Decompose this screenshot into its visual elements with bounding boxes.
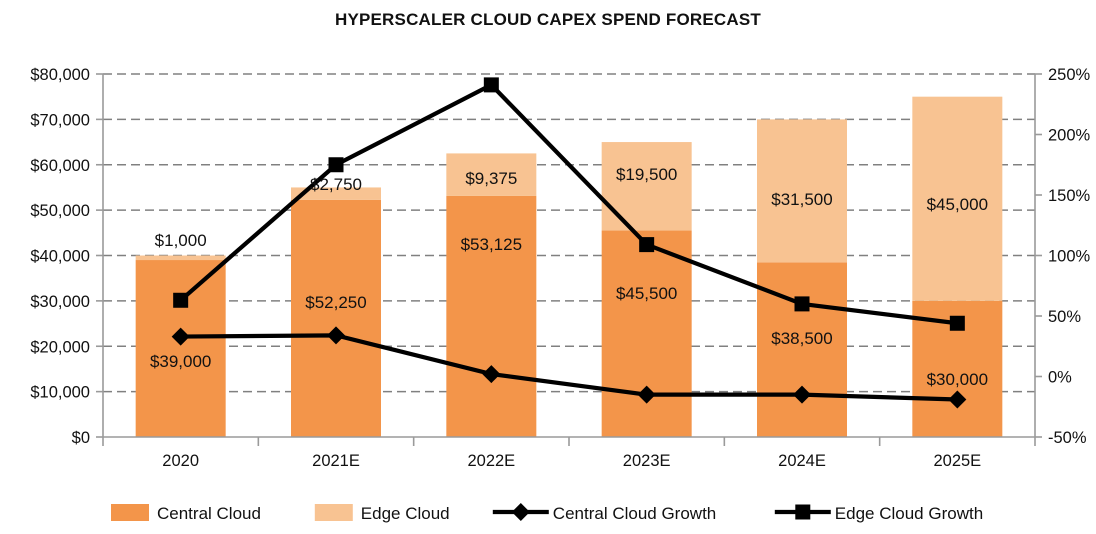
chart-container: $0$10,000$20,000$30,000$40,000$50,000$60… <box>0 0 1096 534</box>
left-axis-tick-label: $0 <box>72 429 90 447</box>
bar-edge-cloud[interactable] <box>602 142 692 230</box>
bar-label-central-cloud: $53,125 <box>461 235 522 254</box>
marker-square <box>795 296 810 311</box>
x-axis-tick-label: 2025E <box>933 452 981 470</box>
bar-central-cloud[interactable] <box>446 196 536 437</box>
legend-marker-diamond <box>512 503 530 521</box>
bar-label-edge-cloud: $19,500 <box>616 165 677 184</box>
right-axis-tick-label: 100% <box>1048 248 1091 266</box>
bar-central-cloud[interactable] <box>602 231 692 437</box>
marker-square <box>639 237 654 252</box>
left-axis-tick-label: $50,000 <box>30 202 90 220</box>
marker-square <box>484 77 499 92</box>
legend-swatch <box>315 504 353 521</box>
marker-square <box>950 316 965 331</box>
bar-label-edge-cloud: $1,000 <box>155 231 207 250</box>
right-axis-tick-label: 150% <box>1048 187 1091 205</box>
x-axis-tick-label: 2021E <box>312 452 360 470</box>
x-axis-tick-label: 2023E <box>623 452 671 470</box>
bar-label-edge-cloud: $45,000 <box>927 195 988 214</box>
bar-edge-cloud[interactable] <box>136 256 226 261</box>
capex-forecast-chart: $0$10,000$20,000$30,000$40,000$50,000$60… <box>0 0 1096 534</box>
right-axis-tick-label: 0% <box>1048 369 1072 387</box>
bar-label-edge-cloud: $9,375 <box>465 169 517 188</box>
legend-label: Edge Cloud Growth <box>835 504 983 523</box>
line-series-group <box>172 77 967 408</box>
right-axis-tick-label: 250% <box>1048 66 1091 84</box>
left-axis-tick-label: $70,000 <box>30 111 90 129</box>
right-axis-tick-label: 200% <box>1048 127 1091 145</box>
gridlines <box>103 74 1035 392</box>
marker-square <box>173 293 188 308</box>
x-axis-tick-label: 2024E <box>778 452 826 470</box>
left-axis-tick-label: $80,000 <box>30 66 90 84</box>
bar-label-central-cloud: $38,500 <box>771 329 832 348</box>
bar-label-central-cloud: $45,500 <box>616 284 677 303</box>
legend-item[interactable]: Edge Cloud Growth <box>775 504 983 523</box>
legend-marker-square <box>795 505 810 520</box>
bar-central-cloud[interactable] <box>757 262 847 437</box>
legend-item[interactable]: Central Cloud <box>111 504 261 523</box>
bar-label-central-cloud: $39,000 <box>150 352 211 371</box>
bar-data-labels: $39,000$1,000$52,250$2,750$53,125$9,375$… <box>150 165 988 389</box>
bar-central-cloud[interactable] <box>291 200 381 437</box>
bar-label-central-cloud: $30,000 <box>927 370 988 389</box>
left-axis-ticklabels: $0$10,000$20,000$30,000$40,000$50,000$60… <box>30 66 90 447</box>
legend-label: Central Cloud Growth <box>553 504 716 523</box>
x-axis-tick-label: 2020 <box>162 452 199 470</box>
legend-item[interactable]: Edge Cloud <box>315 504 450 523</box>
chart-legend: Central CloudEdge CloudCentral Cloud Gro… <box>111 503 983 523</box>
legend-swatch <box>111 504 149 521</box>
legend-item[interactable]: Central Cloud Growth <box>493 503 716 523</box>
bar-label-edge-cloud: $2,750 <box>310 175 362 194</box>
legend-label: Edge Cloud <box>361 504 450 523</box>
left-axis-tick-label: $30,000 <box>30 293 90 311</box>
bar-central-cloud[interactable] <box>136 260 226 437</box>
axes-group <box>96 74 1042 446</box>
right-axis-ticklabels: -50%0%50%100%150%200%250% <box>1048 66 1091 447</box>
x-axis-ticklabels: 20202021E2022E2023E2024E2025E <box>162 452 981 470</box>
bar-label-central-cloud: $52,250 <box>305 293 366 312</box>
marker-square <box>329 157 344 172</box>
legend-label: Central Cloud <box>157 504 261 523</box>
right-axis-tick-label: -50% <box>1048 429 1087 447</box>
left-axis-tick-label: $60,000 <box>30 157 90 175</box>
left-axis-tick-label: $20,000 <box>30 338 90 356</box>
x-axis-tick-label: 2022E <box>467 452 515 470</box>
bar-label-edge-cloud: $31,500 <box>771 190 832 209</box>
right-axis-tick-label: 50% <box>1048 308 1081 326</box>
left-axis-tick-label: $40,000 <box>30 248 90 266</box>
left-axis-tick-label: $10,000 <box>30 384 90 402</box>
